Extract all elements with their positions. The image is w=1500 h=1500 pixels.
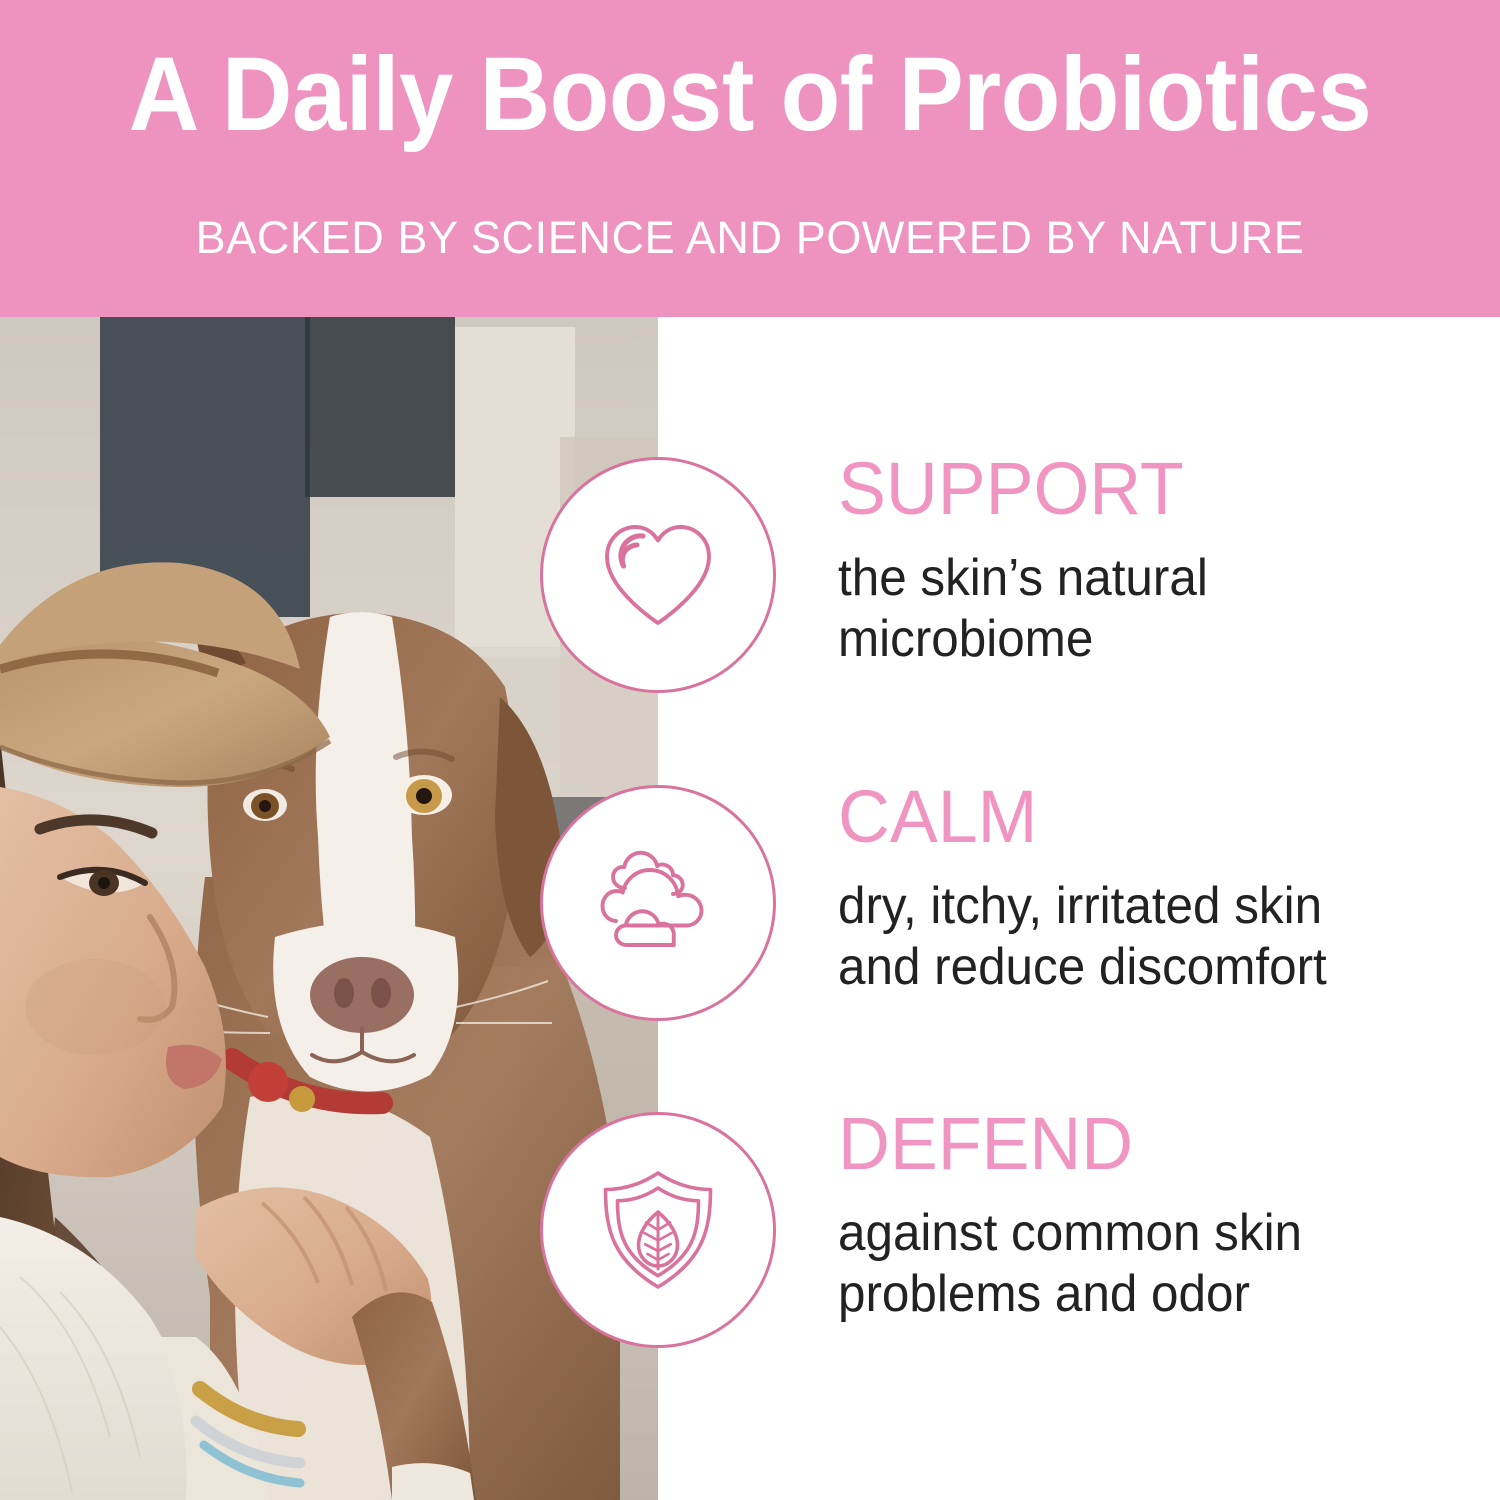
feature-body-defend: against common skin problems and odor <box>838 1203 1446 1326</box>
clouds-icon <box>540 785 776 1021</box>
heart-icon-glyph <box>583 500 733 650</box>
feature-heading-defend: DEFEND <box>838 1107 1459 1181</box>
page-subtitle: BACKED BY SCIENCE AND POWERED BY NATURE <box>196 215 1305 260</box>
page-title: A Daily Boost of Probiotics <box>129 42 1372 147</box>
feature-body-line: microbiome <box>838 609 1446 670</box>
shield-leaf-icon <box>540 1112 776 1348</box>
feature-body-line: and reduce discomfort <box>838 937 1446 998</box>
feature-body-line: the skin’s natural <box>838 548 1446 609</box>
feature-text-defend: DEFEND against common skin problems and … <box>838 1107 1478 1326</box>
feature-body-calm: dry, itchy, irritated skin and reduce di… <box>838 876 1446 999</box>
probiotics-infographic: A Daily Boost of Probiotics BACKED BY SC… <box>0 0 1500 1500</box>
feature-text-support: SUPPORT the skin’s natural microbiome <box>838 452 1478 671</box>
shield-leaf-icon-glyph <box>583 1155 733 1305</box>
header-banner: A Daily Boost of Probiotics BACKED BY SC… <box>0 0 1500 317</box>
feature-body-line: problems and odor <box>838 1264 1446 1325</box>
heart-icon <box>540 457 776 693</box>
clouds-icon-glyph <box>583 828 733 978</box>
feature-heading-calm: CALM <box>838 780 1459 854</box>
feature-body-support: the skin’s natural microbiome <box>838 548 1446 671</box>
feature-list: SUPPORT the skin’s natural microbiome <box>658 317 1500 1500</box>
feature-text-calm: CALM dry, itchy, irritated skin and redu… <box>838 780 1478 999</box>
feature-heading-support: SUPPORT <box>838 452 1459 526</box>
feature-body-line: dry, itchy, irritated skin <box>838 876 1446 937</box>
feature-body-line: against common skin <box>838 1203 1446 1264</box>
